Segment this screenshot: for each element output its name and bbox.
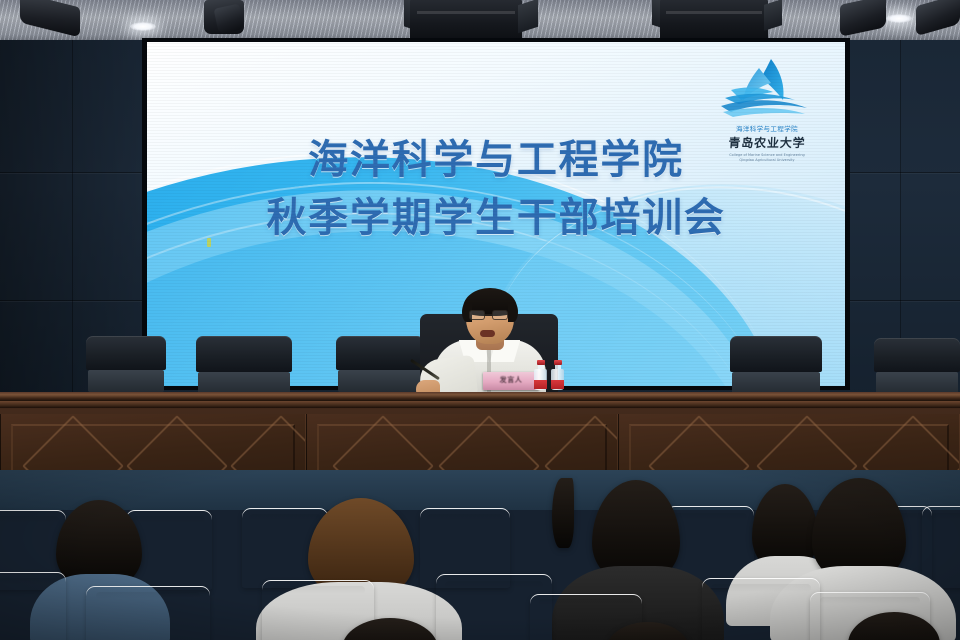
attendee-head xyxy=(552,478,574,548)
chair-cover xyxy=(86,586,210,640)
podium-top-edge xyxy=(0,392,960,401)
conference-hall-photo: 海洋科学与工程学院 秋季学期学生干部培训会 xyxy=(0,0,960,640)
chair-cover xyxy=(0,572,66,640)
speaker-mouth xyxy=(480,330,495,337)
slide-title-line-2: 秋季学期学生干部培训会 xyxy=(147,192,845,244)
water-bottle xyxy=(534,360,547,390)
sailboat-wave-logo-icon xyxy=(711,56,823,122)
logo-english-line-2: Qingdao Agricultural University xyxy=(711,158,823,163)
eyeglasses-lens-left xyxy=(469,310,485,320)
speaker-hair-side xyxy=(508,302,518,322)
podium-lip xyxy=(0,401,960,408)
chair-cover xyxy=(702,578,820,640)
logo-university-name: 青岛农业大学 xyxy=(711,134,824,151)
chair-cover xyxy=(922,506,960,588)
wall-seam xyxy=(72,40,73,392)
nameplate-text: 发言人 xyxy=(483,375,539,385)
water-bottle xyxy=(551,360,564,390)
audience-area xyxy=(0,470,960,640)
slide-artifact xyxy=(207,238,211,247)
university-logo: 海洋科学与工程学院 青岛农业大学 College of Marine Scien… xyxy=(711,56,823,162)
logo-department-name: 海洋科学与工程学院 xyxy=(711,123,823,133)
eyeglasses-bridge xyxy=(485,314,492,316)
downlight xyxy=(886,14,912,23)
downlight xyxy=(130,22,156,31)
nameplate: 发言人 xyxy=(483,372,539,390)
eyeglasses-lens-right xyxy=(492,310,508,320)
